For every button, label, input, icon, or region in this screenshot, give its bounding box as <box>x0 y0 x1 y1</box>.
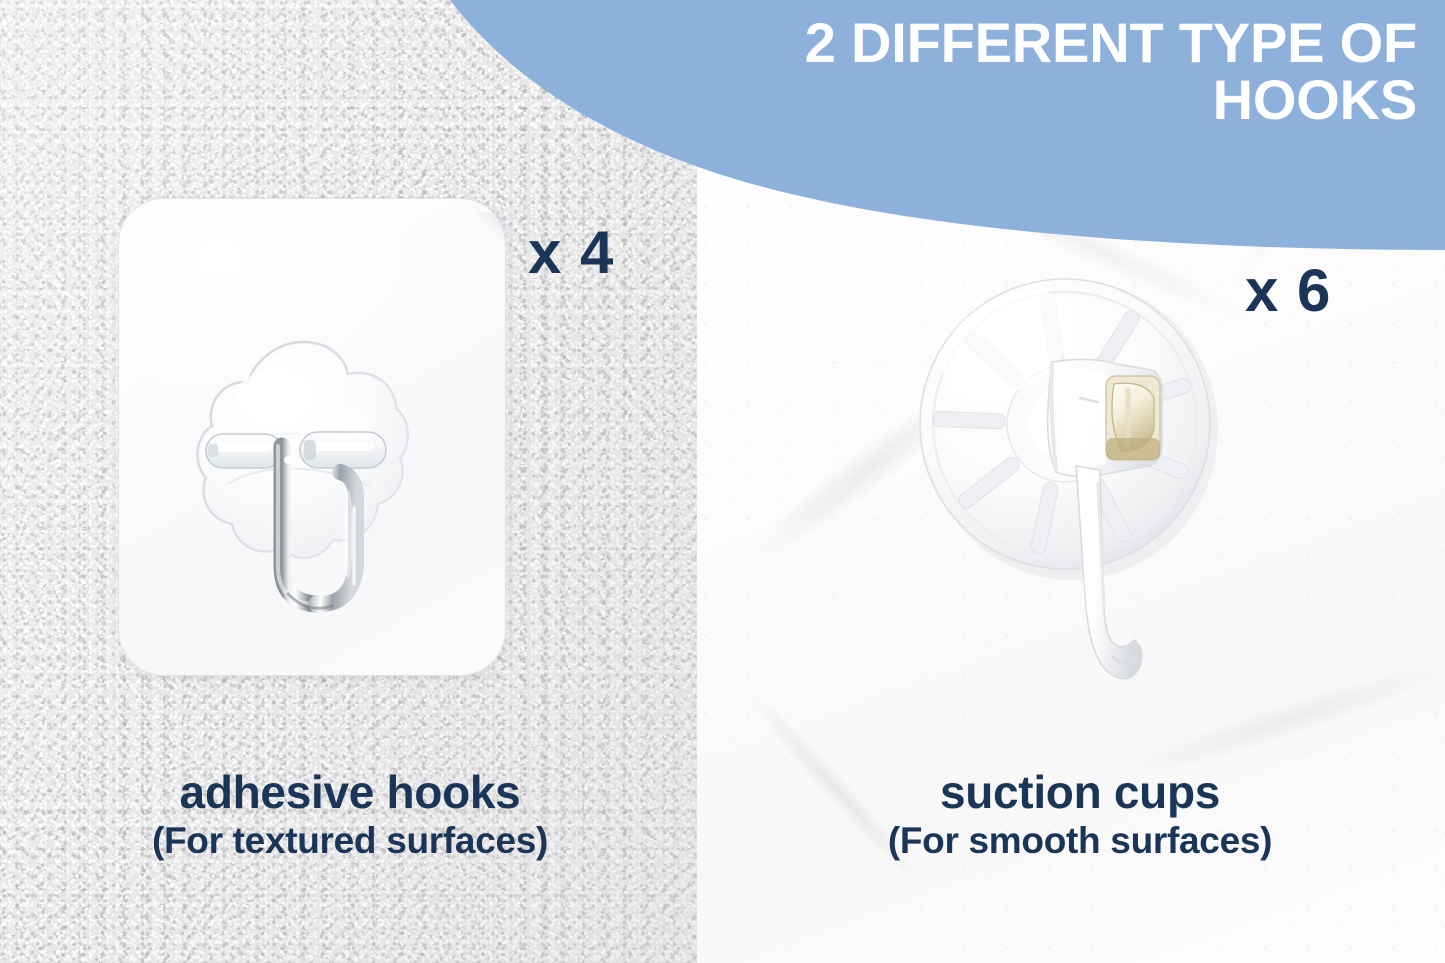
caption-title-adhesive: adhesive hooks <box>20 768 680 817</box>
quantity-badge-adhesive: x 4 <box>528 218 614 287</box>
caption-title-suction: suction cups <box>760 768 1400 817</box>
caption-subtitle-suction: (For smooth surfaces) <box>760 821 1400 862</box>
suction-cup-lever <box>1048 359 1162 476</box>
adhesive-hook-product <box>118 198 506 676</box>
infographic-canvas: 2 DIFFERENT TYPE OF HOOKS x 4 x 6 adhesi… <box>0 0 1445 963</box>
adhesive-hook-metal-hook <box>204 416 424 646</box>
suction-cup-product <box>900 252 1230 752</box>
caption-suction-cups: suction cups (For smooth surfaces) <box>760 768 1400 861</box>
quantity-badge-suction: x 6 <box>1245 256 1331 325</box>
caption-adhesive-hooks: adhesive hooks (For textured surfaces) <box>20 768 680 861</box>
adhesive-pad-peeled-corner <box>478 212 508 246</box>
caption-subtitle-adhesive: (For textured surfaces) <box>20 821 680 862</box>
